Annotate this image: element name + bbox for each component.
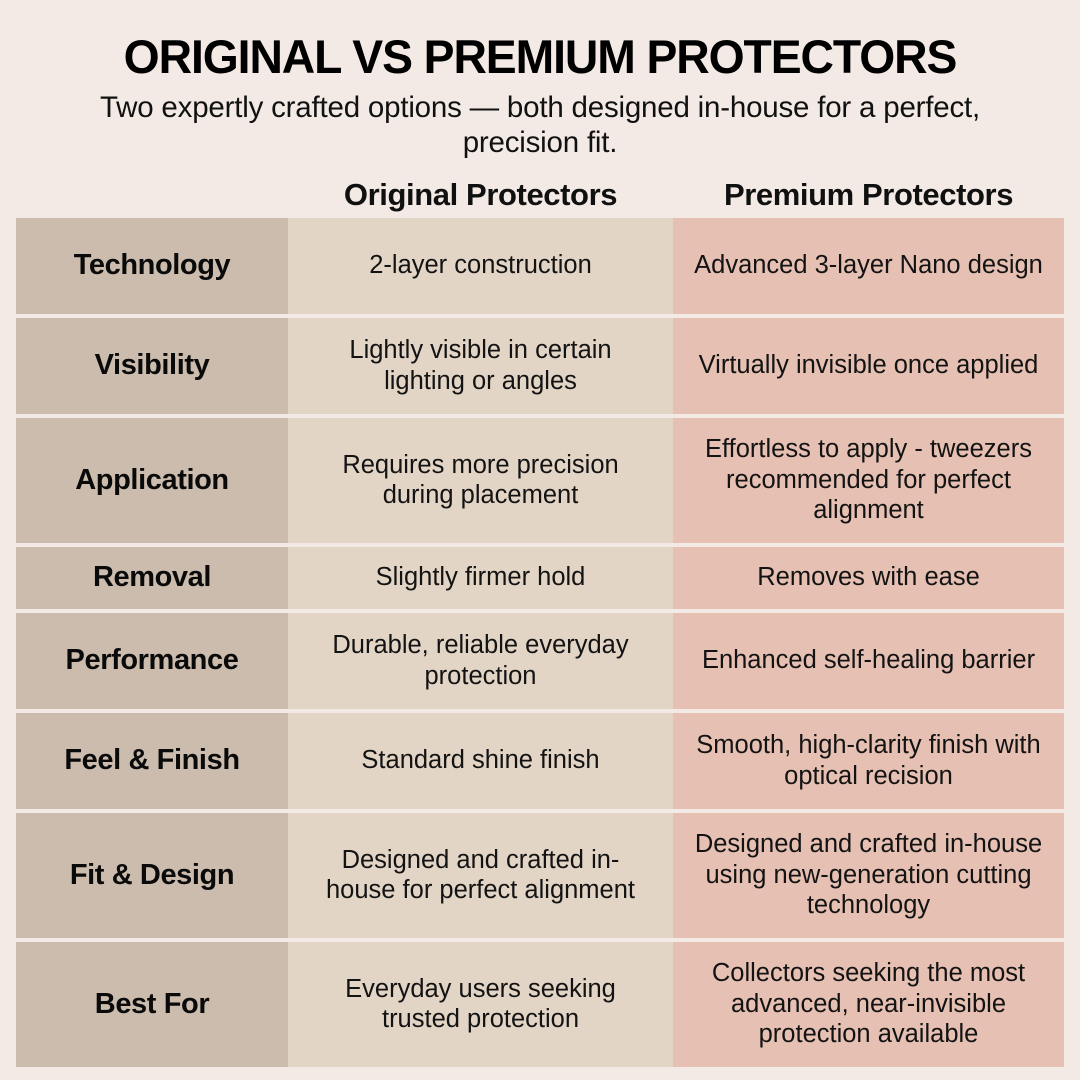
cell-original: Designed and crafted in-house for perfec… bbox=[288, 813, 673, 938]
cell-premium: Removes with ease bbox=[673, 547, 1064, 609]
comparison-table: Technology 2-layer construction Advanced… bbox=[16, 218, 1064, 1067]
table-row: Removal Slightly firmer hold Removes wit… bbox=[16, 547, 1064, 609]
column-header-original: Original Protectors bbox=[288, 177, 673, 218]
cell-original: Standard shine finish bbox=[288, 713, 673, 809]
cell-original: Slightly firmer hold bbox=[288, 547, 673, 609]
row-label: Application bbox=[16, 418, 288, 543]
row-label: Feel & Finish bbox=[16, 713, 288, 809]
table-row: Fit & Design Designed and crafted in-hou… bbox=[16, 813, 1064, 938]
table-row: Visibility Lightly visible in certain li… bbox=[16, 318, 1064, 414]
cell-premium: Designed and crafted in-house using new-… bbox=[673, 813, 1064, 938]
row-label: Fit & Design bbox=[16, 813, 288, 938]
cell-original: Everyday users seeking trusted protectio… bbox=[288, 942, 673, 1067]
column-headers: Original Protectors Premium Protectors bbox=[0, 177, 1080, 218]
column-header-premium: Premium Protectors bbox=[673, 177, 1064, 218]
cell-premium: Effortless to apply - tweezers recommend… bbox=[673, 418, 1064, 543]
table-row: Application Requires more precision duri… bbox=[16, 418, 1064, 543]
cell-original: Lightly visible in certain lighting or a… bbox=[288, 318, 673, 414]
row-label: Best For bbox=[16, 942, 288, 1067]
footer-spacer bbox=[0, 1067, 1080, 1080]
table-row: Technology 2-layer construction Advanced… bbox=[16, 218, 1064, 314]
table-row: Feel & Finish Standard shine finish Smoo… bbox=[16, 713, 1064, 809]
page-title: ORIGINAL VS PREMIUM PROTECTORS bbox=[36, 33, 1045, 80]
poster-header: ORIGINAL VS PREMIUM PROTECTORS Two exper… bbox=[0, 0, 1080, 161]
cell-original: Durable, reliable everyday protection bbox=[288, 613, 673, 709]
cell-original: Requires more precision during placement bbox=[288, 418, 673, 543]
page-subtitle: Two expertly crafted options — both desi… bbox=[70, 91, 1010, 161]
table-row: Performance Durable, reliable everyday p… bbox=[16, 613, 1064, 709]
column-header-spacer bbox=[16, 177, 288, 218]
cell-original: 2-layer construction bbox=[288, 218, 673, 314]
cell-premium: Enhanced self-healing barrier bbox=[673, 613, 1064, 709]
row-label: Technology bbox=[16, 218, 288, 314]
comparison-poster: ORIGINAL VS PREMIUM PROTECTORS Two exper… bbox=[0, 0, 1080, 1080]
cell-premium: Virtually invisible once applied bbox=[673, 318, 1064, 414]
cell-premium: Advanced 3-layer Nano design bbox=[673, 218, 1064, 314]
row-label: Removal bbox=[16, 547, 288, 609]
table-row: Best For Everyday users seeking trusted … bbox=[16, 942, 1064, 1067]
row-label: Visibility bbox=[16, 318, 288, 414]
cell-premium: Smooth, high-clarity finish with optical… bbox=[673, 713, 1064, 809]
row-label: Performance bbox=[16, 613, 288, 709]
cell-premium: Collectors seeking the most advanced, ne… bbox=[673, 942, 1064, 1067]
